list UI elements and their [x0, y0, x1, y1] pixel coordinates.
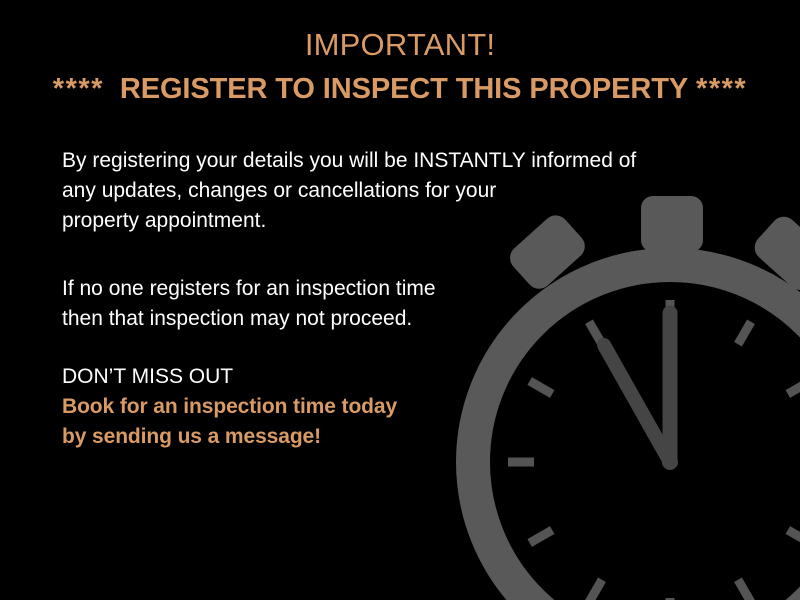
cta-line-book: Book for an inspection time today [62, 392, 397, 422]
headline-register-text: REGISTER TO INSPECT THIS PROPERTY [120, 73, 688, 105]
paragraph-line: property appointment. [62, 206, 636, 236]
paragraph-call-to-action: DON’T MISS OUT Book for an inspection ti… [62, 362, 397, 452]
page-title: IMPORTANT! [0, 28, 800, 61]
text-layer: IMPORTANT! **** REGISTER TO INSPECT THIS… [0, 0, 800, 600]
paragraph-no-registration-warning: If no one registers for an inspection ti… [62, 274, 436, 334]
paragraph-line: By registering your details you will be … [62, 146, 636, 176]
stars-trail: **** [696, 73, 747, 105]
paragraph-line: any updates, changes or cancellations fo… [62, 176, 636, 206]
dont-miss-out-line: DON’T MISS OUT [62, 362, 397, 392]
paragraph-line: then that inspection may not proceed. [62, 304, 436, 334]
cta-line-message: by sending us a message! [62, 422, 397, 452]
headline-register: **** REGISTER TO INSPECT THIS PROPERTY *… [0, 74, 800, 105]
paragraph-line: If no one registers for an inspection ti… [62, 274, 436, 304]
stars-lead: **** [53, 73, 104, 105]
slide-canvas: IMPORTANT! **** REGISTER TO INSPECT THIS… [0, 0, 800, 600]
paragraph-registering-benefits: By registering your details you will be … [62, 146, 636, 236]
